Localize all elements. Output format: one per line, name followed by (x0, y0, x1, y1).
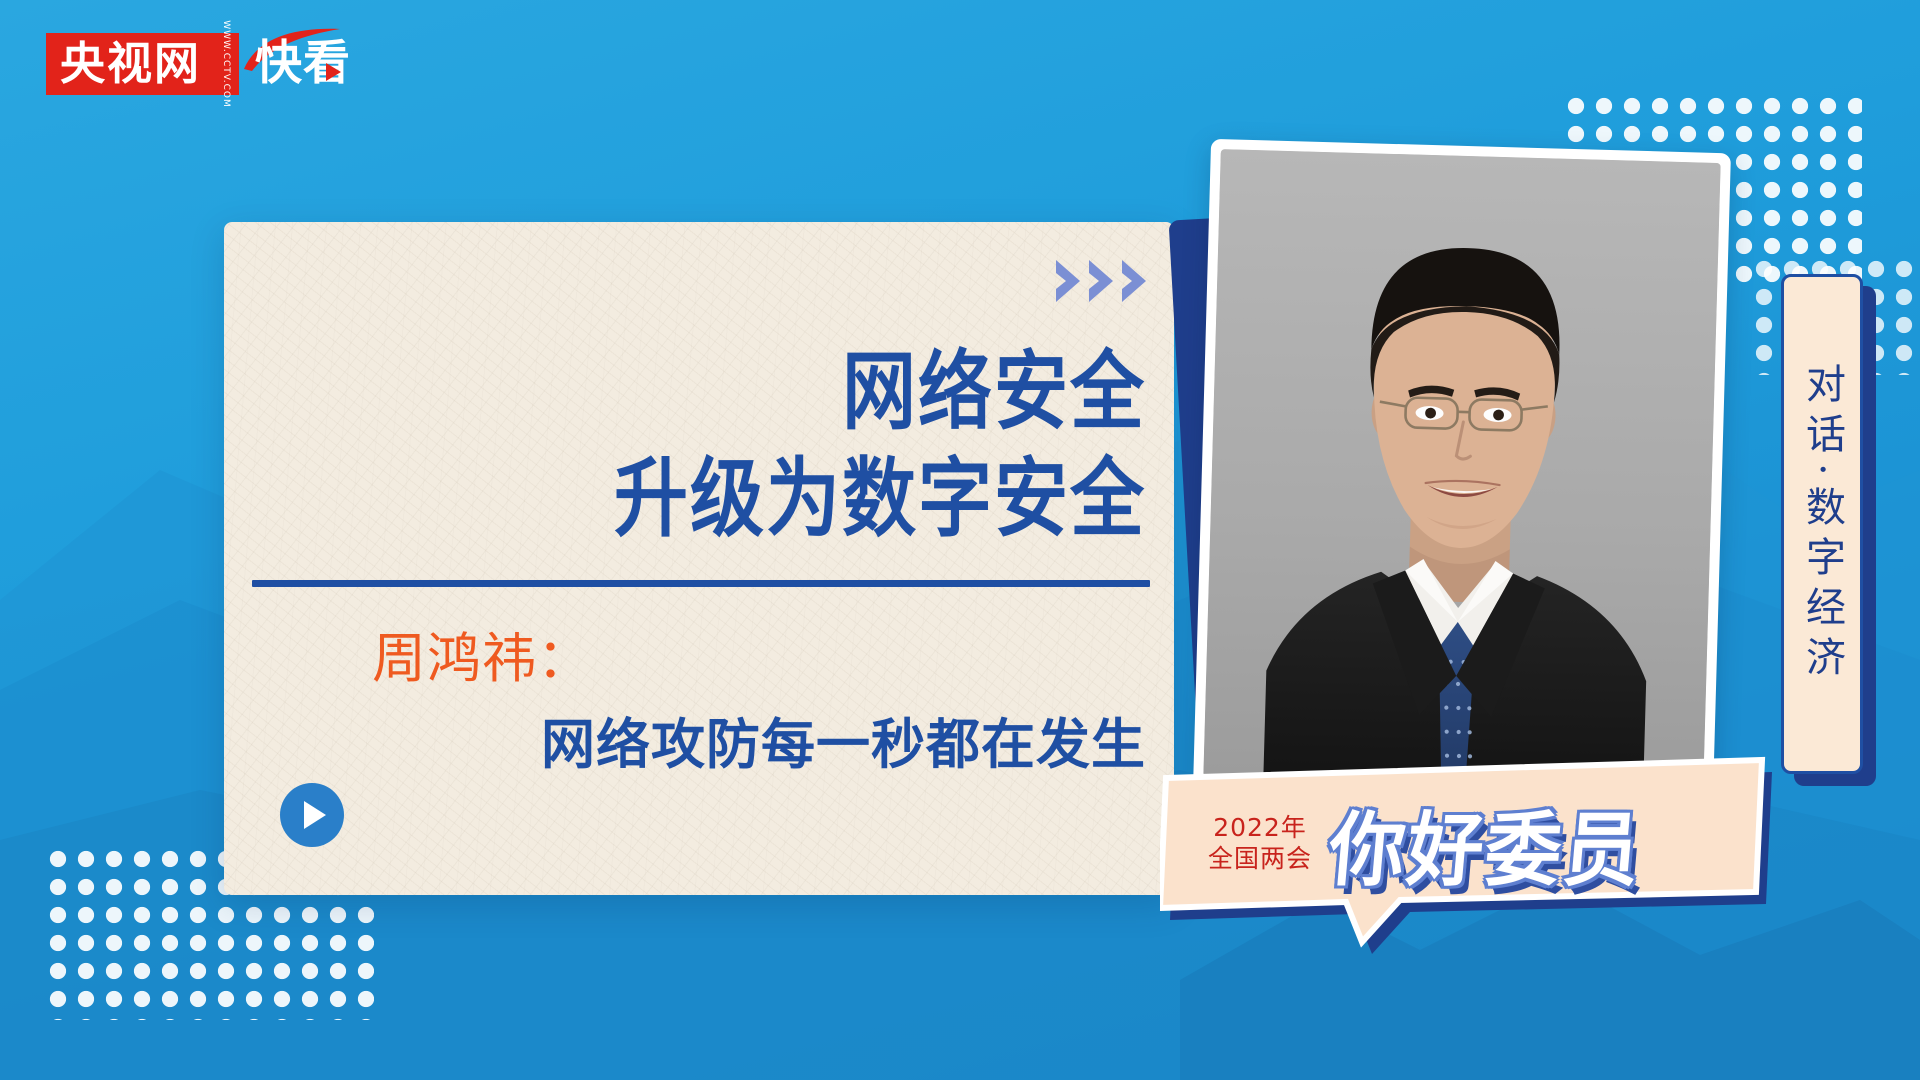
badge-year-line-2: 全国两会 (1208, 843, 1312, 874)
page-title: 网络安全 升级为数字安全 (224, 340, 1146, 553)
side-banner-label: 对话·数字经济 (1802, 363, 1842, 686)
double-chevron-right-icon (1054, 258, 1150, 304)
headline-line-1: 网络安全 (224, 340, 1146, 446)
speaker-photo-frame (1193, 139, 1731, 801)
logo-brand-box: 央视网 (46, 33, 213, 95)
card-paper-texture (224, 222, 1174, 895)
badge-year-line-1: 2022年 (1208, 812, 1312, 843)
badge-content: 2022年 全国两会 你好委员 (1208, 788, 1642, 898)
play-icon (304, 801, 326, 829)
logo-url-text: WWW.CCTV.COM (221, 20, 231, 108)
quote-text: 网络攻防每一秒都在发生 (224, 700, 1146, 779)
divider (252, 580, 1150, 587)
speaker-portrait (1203, 149, 1720, 791)
badge-year: 2022年 全国两会 (1208, 812, 1312, 874)
poster-canvas: 央视网 WWW.CCTV.COM 快看 网络安全 升级为数字安全 周鸿祎： 网络… (0, 0, 1920, 1080)
badge-slogan: 你好委员 (1325, 785, 1647, 902)
headline-card: 网络安全 升级为数字安全 周鸿祎： 网络攻防每一秒都在发生 (224, 222, 1174, 895)
logo-url-strip: WWW.CCTV.COM (213, 33, 239, 95)
logo-brand-text: 央视网 (60, 41, 201, 86)
speaker-name: 周鸿祎： (372, 614, 592, 693)
headline-line-2: 升级为数字安全 (224, 446, 1146, 552)
logo-suffix: 快看 (255, 33, 351, 95)
red-play-triangle-icon (326, 63, 341, 81)
status-badge: 2022年 全国两会 你好委员 (1160, 752, 1780, 962)
cctv-logo[interactable]: 央视网 WWW.CCTV.COM 快看 (46, 33, 351, 109)
play-button[interactable] (280, 783, 344, 847)
side-banner: 对话·数字经济 (1781, 274, 1863, 774)
